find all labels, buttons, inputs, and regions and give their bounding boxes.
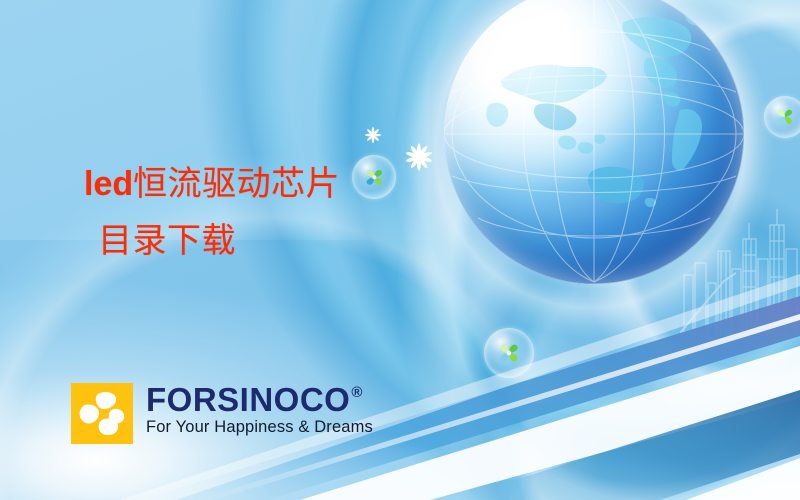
headline-cjk-text: 恒流驱动芯片 (133, 166, 340, 203)
headline-latin-text: led (84, 165, 133, 203)
green-pinwheel-icon (773, 105, 797, 129)
brand-wordmark: FORSINOCO ® (146, 384, 373, 416)
headline-block: led恒流驱动芯片 目录下载 (84, 164, 414, 263)
registered-trademark-icon: ® (351, 385, 363, 400)
forsinoco-pinwheel-mark-icon (71, 383, 133, 444)
banner-canvas: led恒流驱动芯片 目录下载 FORSINOCO ® For Your Happ… (0, 0, 800, 500)
headline-line-1: led恒流驱动芯片 (84, 164, 414, 205)
brand-logo[interactable]: FORSINOCO ® For Your Happiness & Dreams (71, 383, 373, 444)
green-pinwheel-icon (495, 339, 523, 367)
brand-name-text: FORSINOCO (146, 384, 350, 416)
logo-text-block: FORSINOCO ® For Your Happiness & Dreams (146, 383, 373, 437)
bubble-icon (764, 96, 800, 138)
diagonal-bands-group (0, 240, 800, 500)
starburst-icon (364, 126, 382, 144)
brand-tagline: For Your Happiness & Dreams (146, 418, 373, 437)
headline-line-2: 目录下载 (84, 221, 414, 262)
bubble-icon (484, 328, 534, 378)
